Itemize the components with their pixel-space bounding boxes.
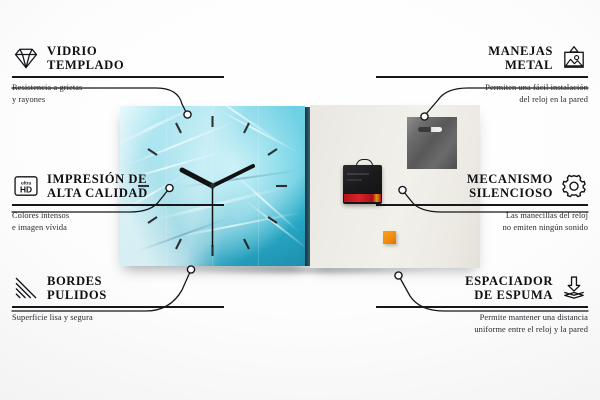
feature-description: Resistencia a grietas y rayones — [12, 82, 224, 106]
metal-hanger-plate — [407, 117, 457, 169]
feature-rule — [376, 306, 588, 307]
feature-title: MANEJAS METAL — [488, 44, 553, 72]
feature-description: Superficie lisa y segura — [12, 312, 224, 324]
feature-rule — [12, 76, 224, 77]
feature-head: MANEJAS METAL — [376, 44, 588, 72]
feature-head: ultra HD IMPRESIÓN DE ALTA CALIDAD — [12, 172, 224, 200]
gear-icon — [560, 172, 588, 200]
feature-head: VIDRIO TEMPLADO — [12, 44, 224, 72]
feature-rule — [12, 204, 224, 205]
movement-detail-mid — [347, 179, 362, 181]
feature-description: Permiten una fácil instalación del reloj… — [376, 82, 588, 106]
feature-block-spacer: ESPACIADOR DE ESPUMA Permite mantener un… — [376, 274, 588, 335]
arrow-down-onto-layers-icon — [560, 274, 588, 302]
feature-head: BORDES PULIDOS — [12, 274, 224, 302]
feature-title: VIDRIO TEMPLADO — [47, 44, 124, 72]
svg-text:HD: HD — [20, 185, 32, 195]
diamond-gem-icon — [12, 44, 40, 72]
hanging-picture-frame-icon — [560, 44, 588, 72]
feature-rule — [376, 204, 588, 205]
feature-head: MECANISMO SILENCIOSO — [376, 172, 588, 200]
feature-head: ESPACIADOR DE ESPUMA — [376, 274, 588, 302]
feature-title: IMPRESIÓN DE ALTA CALIDAD — [47, 172, 148, 200]
feature-block-glass: VIDRIO TEMPLADO Resistencia a grietas y … — [12, 44, 224, 105]
feature-description: Colores intensos e imagen vívida — [12, 210, 224, 234]
infographic-canvas: VIDRIO TEMPLADO Resistencia a grietas y … — [0, 0, 600, 400]
feature-description: Las manecillas del reloj no emiten ningú… — [376, 210, 588, 234]
movement-hanger-loop — [356, 159, 373, 169]
feature-block-edges: BORDES PULIDOS Superficie lisa y segura — [12, 274, 224, 324]
movement-detail-top — [347, 173, 369, 175]
feature-block-hangers: MANEJAS METAL Permiten una fácil instala… — [376, 44, 588, 105]
feature-title: BORDES PULIDOS — [47, 274, 107, 302]
feature-title: MECANISMO SILENCIOSO — [467, 172, 553, 200]
feature-block-print: ultra HD IMPRESIÓN DE ALTA CALIDAD Color… — [12, 172, 224, 233]
feature-block-mechanism: MECANISMO SILENCIOSO Las manecillas del … — [376, 172, 588, 233]
polished-edge-stripes-icon — [12, 274, 40, 302]
ultra-hd-badge-icon: ultra HD — [12, 172, 40, 200]
feature-description: Permite mantener una distancia uniforme … — [376, 312, 588, 336]
feature-title: ESPACIADOR DE ESPUMA — [465, 274, 553, 302]
hanger-slot — [418, 127, 442, 132]
feature-rule — [12, 306, 224, 307]
feature-rule — [376, 76, 588, 77]
